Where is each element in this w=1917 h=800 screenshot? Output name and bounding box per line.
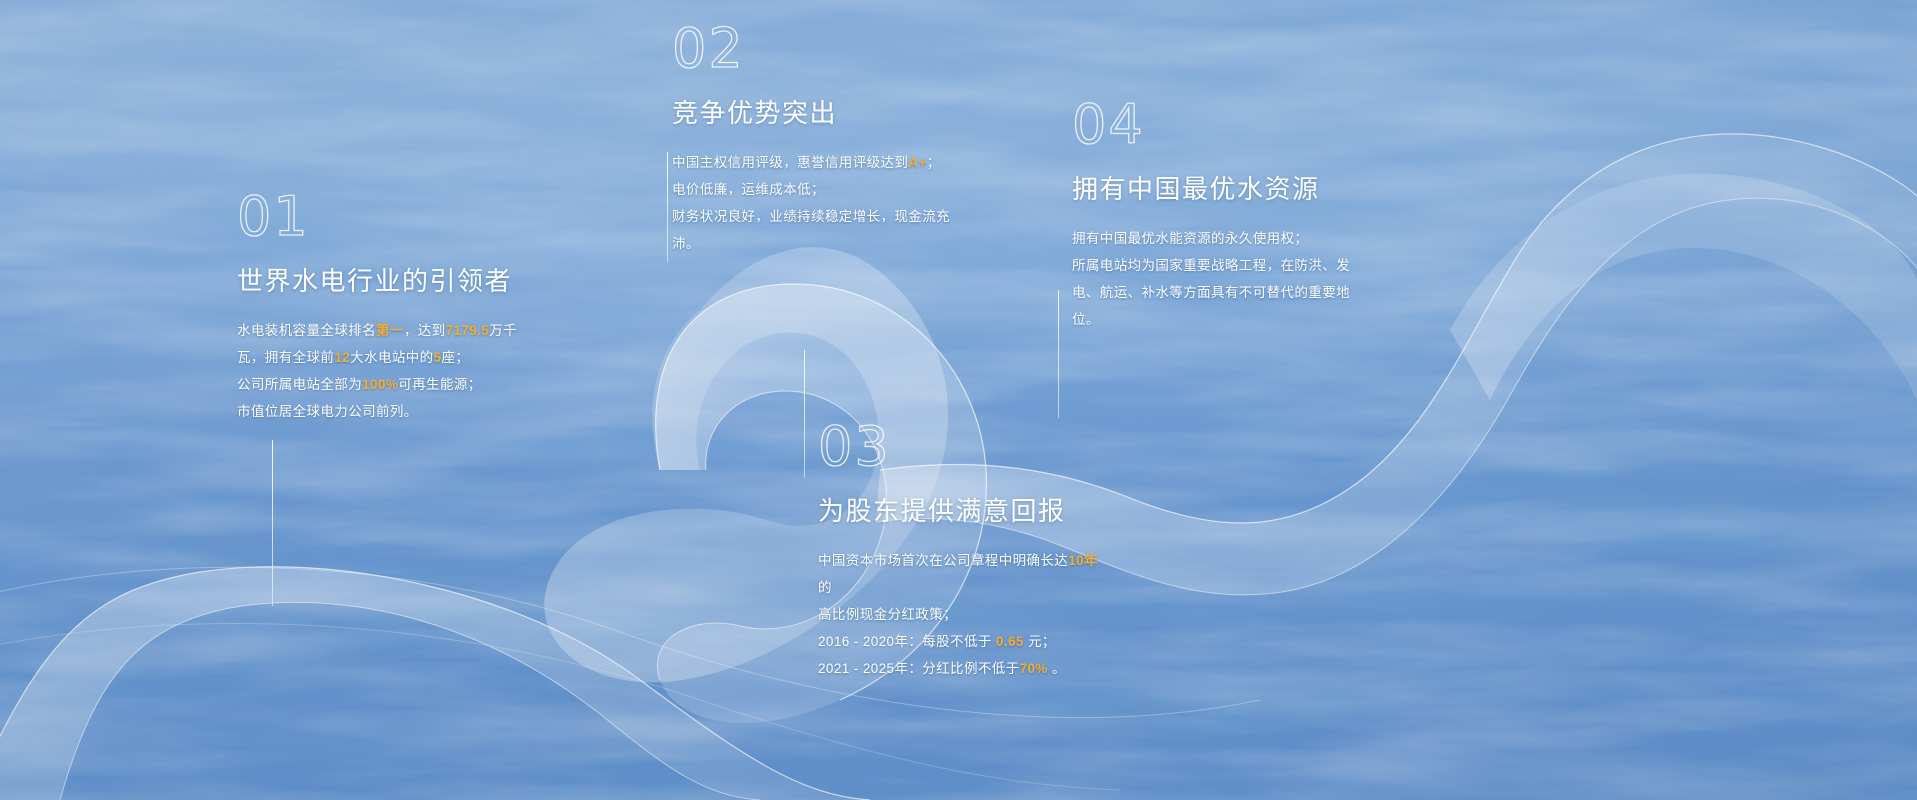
connector-line-04	[1058, 290, 1059, 418]
block-body-01: 水电装机容量全球排名第一，达到7179.5万千瓦，拥有全球前12大水电站中的5座…	[237, 317, 537, 425]
body-line: 水电装机容量全球排名第一，达到7179.5万千	[237, 317, 537, 344]
body-text: 的	[818, 580, 832, 595]
connector-line-02	[667, 152, 668, 262]
body-text: 2021 - 2025年：分红比例不低于	[818, 661, 1020, 676]
body-text: 沛。	[672, 236, 700, 251]
block-number-03: 03	[818, 420, 1108, 474]
body-line: 电、航运、补水等方面具有不可替代的重要地	[1072, 279, 1372, 306]
block-body-03: 中国资本市场首次在公司章程中明确长达10年的高比例现金分红政策；2016 - 2…	[818, 547, 1108, 682]
body-text: 瓦，拥有全球前	[237, 350, 334, 365]
feature-block-01: 01 世界水电行业的引领者 水电装机容量全球排名第一，达到7179.5万千瓦，拥…	[237, 190, 537, 425]
body-text: 电价低廉，运维成本低；	[672, 182, 825, 197]
body-text: 2016 - 2020年：每股不低于	[818, 634, 996, 649]
highlight-value: 7179.5	[446, 323, 490, 338]
body-line: 市值位居全球电力公司前列。	[237, 398, 537, 425]
feature-block-04: 04 拥有中国最优水资源 拥有中国最优水能资源的永久使用权；所属电站均为国家重要…	[1072, 98, 1372, 333]
body-line: 位。	[1072, 306, 1372, 333]
body-text: 座；	[441, 350, 469, 365]
block-body-04: 拥有中国最优水能资源的永久使用权；所属电站均为国家重要战略工程，在防洪、发电、航…	[1072, 225, 1372, 333]
body-line: 中国主权信用评级，惠誉信用评级达到A+；	[672, 149, 962, 176]
highlight-value: 12	[334, 350, 350, 365]
infographic-stage: 01 世界水电行业的引领者 水电装机容量全球排名第一，达到7179.5万千瓦，拥…	[0, 0, 1917, 800]
body-text: 拥有中国最优水能资源的永久使用权；	[1072, 231, 1308, 246]
block-title-04: 拥有中国最优水资源	[1072, 174, 1372, 205]
block-body-02: 中国主权信用评级，惠誉信用评级达到A+；电价低廉，运维成本低；财务状况良好，业绩…	[672, 149, 962, 257]
body-text: 财务状况良好，业绩持续稳定增长，现金流充	[672, 209, 950, 224]
highlight-value: 第一	[376, 323, 404, 338]
body-line: 公司所属电站全部为100%可再生能源；	[237, 371, 537, 398]
body-line: 所属电站均为国家重要战略工程，在防洪、发	[1072, 252, 1372, 279]
highlight-value: 0.65	[996, 634, 1024, 649]
body-text: 公司所属电站全部为	[237, 377, 362, 392]
body-text: 。	[1048, 661, 1066, 676]
body-line: 电价低廉，运维成本低；	[672, 176, 962, 203]
body-text: ；	[927, 155, 941, 170]
feature-block-02: 02 竞争优势突出 中国主权信用评级，惠誉信用评级达到A+；电价低廉，运维成本低…	[672, 22, 962, 257]
body-text: 高比例现金分红政策；	[818, 607, 957, 622]
block-number-02: 02	[672, 22, 962, 76]
body-text: 位。	[1072, 312, 1100, 327]
body-text: 元；	[1024, 634, 1056, 649]
body-text: 电、航运、补水等方面具有不可替代的重要地	[1072, 285, 1350, 300]
body-line: 沛。	[672, 230, 962, 257]
body-line: 财务状况良好，业绩持续稳定增长，现金流充	[672, 203, 962, 230]
body-line: 中国资本市场首次在公司章程中明确长达10年的	[818, 547, 1108, 601]
block-title-01: 世界水电行业的引领者	[237, 266, 537, 297]
body-line: 2016 - 2020年：每股不低于 0.65 元；	[818, 628, 1108, 655]
connector-line-03	[804, 350, 805, 478]
body-text: 水电装机容量全球排名	[237, 323, 376, 338]
body-text: 中国资本市场首次在公司章程中明确长达	[818, 553, 1068, 568]
body-line: 瓦，拥有全球前12大水电站中的5座；	[237, 344, 537, 371]
body-text: 中国主权信用评级，惠誉信用评级达到	[672, 155, 908, 170]
block-number-01: 01	[237, 190, 537, 244]
body-text: 可再生能源；	[398, 377, 481, 392]
highlight-value: 100%	[362, 377, 398, 392]
body-text: 市值位居全球电力公司前列。	[237, 404, 418, 419]
block-title-03: 为股东提供满意回报	[818, 496, 1108, 527]
highlight-value: A+	[908, 155, 926, 170]
block-title-02: 竞争优势突出	[672, 98, 962, 129]
body-line: 2021 - 2025年：分红比例不低于70% 。	[818, 655, 1108, 682]
highlight-value: 70%	[1020, 661, 1048, 676]
body-text: ，达到	[404, 323, 446, 338]
block-number-04: 04	[1072, 98, 1372, 152]
body-text: 所属电站均为国家重要战略工程，在防洪、发	[1072, 258, 1350, 273]
body-text: 万千	[489, 323, 517, 338]
body-line: 拥有中国最优水能资源的永久使用权；	[1072, 225, 1372, 252]
connector-line-01	[272, 440, 273, 606]
body-text: 大水电站中的	[350, 350, 433, 365]
highlight-value: 10年	[1068, 553, 1098, 568]
body-line: 高比例现金分红政策；	[818, 601, 1108, 628]
feature-block-03: 03 为股东提供满意回报 中国资本市场首次在公司章程中明确长达10年的高比例现金…	[818, 420, 1108, 682]
